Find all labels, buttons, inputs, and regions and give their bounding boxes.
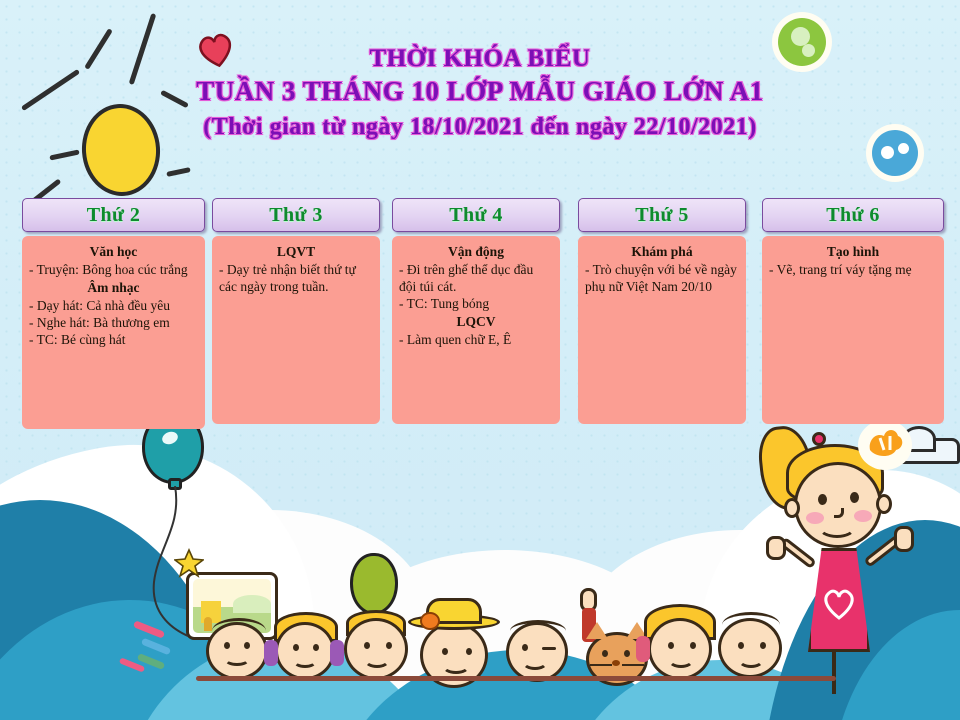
day-label: Thứ 4 (449, 204, 502, 227)
girl-ear (876, 494, 892, 514)
children-rail (196, 676, 836, 681)
girl-eye (818, 494, 827, 505)
subject-heading: Tạo hình (769, 243, 937, 260)
activity-item: - Vẽ, trang trí váy tặng mẹ (769, 261, 937, 278)
hat-flower-icon (420, 612, 440, 630)
subject-heading: Âm nhạc (29, 279, 198, 296)
day-label: Thứ 5 (635, 204, 688, 227)
activity-item: - Dạy hát: Cả nhà đều yêu (29, 297, 198, 314)
day-label: Thứ 6 (826, 204, 879, 227)
sun-ray (166, 167, 191, 177)
title-line-1: THỜI KHÓA BIỂU (130, 44, 830, 74)
day-label: Thứ 2 (87, 204, 140, 227)
day-card-4[interactable]: Thứ 4Vận động- Đi trên ghế thể dục đầu đ… (392, 198, 560, 424)
day-card-body-3: LQVT- Dạy trẻ nhận biết thứ tự các ngày … (212, 236, 380, 424)
sun-ray (21, 69, 80, 111)
poster-canvas: THỜI KHÓA BIỂU TUẦN 3 THÁNG 10 LỚP MẪU G… (0, 0, 960, 720)
girl-hand-right (894, 526, 914, 552)
activity-item: - TC: Bé cùng hát (29, 331, 198, 348)
day-card-header-2[interactable]: Thứ 2 (22, 198, 205, 232)
day-card-header-3[interactable]: Thứ 3 (212, 198, 380, 232)
subject-heading: Vận động (399, 243, 553, 260)
day-card-5[interactable]: Thứ 5Khám phá- Trò chuyện với bé về ngày… (578, 198, 746, 424)
subject-heading: LQCV (399, 313, 553, 330)
activity-item: - TC: Tung bóng (399, 295, 553, 312)
day-card-body-2: Văn học- Truyện: Bông hoa cúc trắngÂm nh… (22, 236, 205, 429)
day-card-body-6: Tạo hình- Vẽ, trang trí váy tặng mẹ (762, 236, 944, 424)
girl-cheek (854, 510, 872, 522)
day-card-header-6[interactable]: Thứ 6 (762, 198, 944, 232)
subject-heading: Văn học (29, 243, 198, 260)
day-card-header-5[interactable]: Thứ 5 (578, 198, 746, 232)
girl-mouth (818, 516, 856, 538)
subject-heading: Khám phá (585, 243, 739, 260)
activity-item: - Dạy trẻ nhận biết thứ tự các ngày tron… (219, 261, 373, 295)
title-line-3: (Thời gian từ ngày 18/10/2021 đến ngày 2… (130, 110, 830, 144)
children-row (0, 560, 960, 720)
girl-eye (850, 492, 859, 503)
subject-heading: LQVT (219, 243, 373, 260)
day-card-2[interactable]: Thứ 2Văn học- Truyện: Bông hoa cúc trắng… (22, 198, 205, 429)
day-card-body-4: Vận động- Đi trên ghế thể dục đầu đội tú… (392, 236, 560, 424)
pigtail (330, 640, 344, 666)
sun-ray (49, 149, 79, 160)
poster-title-block: THỜI KHÓA BIỂU TUẦN 3 THÁNG 10 LỚP MẪU G… (130, 44, 830, 144)
pigtail (636, 636, 650, 662)
day-card-body-5: Khám phá- Trò chuyện với bé về ngày phụ … (578, 236, 746, 424)
schedule-grid: Thứ 2Văn học- Truyện: Bông hoa cúc trắng… (0, 198, 960, 433)
activity-item: - Nghe hát: Bà thương em (29, 314, 198, 331)
activity-item: - Đi trên ghế thể dục đầu đội túi cát. (399, 261, 553, 295)
day-label: Thứ 3 (269, 204, 322, 227)
day-card-3[interactable]: Thứ 3LQVT- Dạy trẻ nhận biết thứ tự các … (212, 198, 380, 424)
day-card-header-4[interactable]: Thứ 4 (392, 198, 560, 232)
title-line-2: TUẦN 3 THÁNG 10 LỚP MẪU GIÁO LỚN A1 (130, 74, 830, 108)
activity-item: - Truyện: Bông hoa cúc trắng (29, 261, 198, 278)
pigtail (264, 640, 278, 666)
girl-hand-left (766, 536, 786, 560)
girl-ear (784, 498, 800, 518)
sticker-blue-icon (872, 130, 918, 176)
activity-item: - Trò chuyện với bé về ngày phụ nữ Việt … (585, 261, 739, 295)
activity-item: - Làm quen chữ E, Ê (399, 331, 553, 348)
sun-ray (84, 28, 113, 70)
day-card-6[interactable]: Thứ 6Tạo hình- Vẽ, trang trí váy tặng mẹ (762, 198, 944, 424)
